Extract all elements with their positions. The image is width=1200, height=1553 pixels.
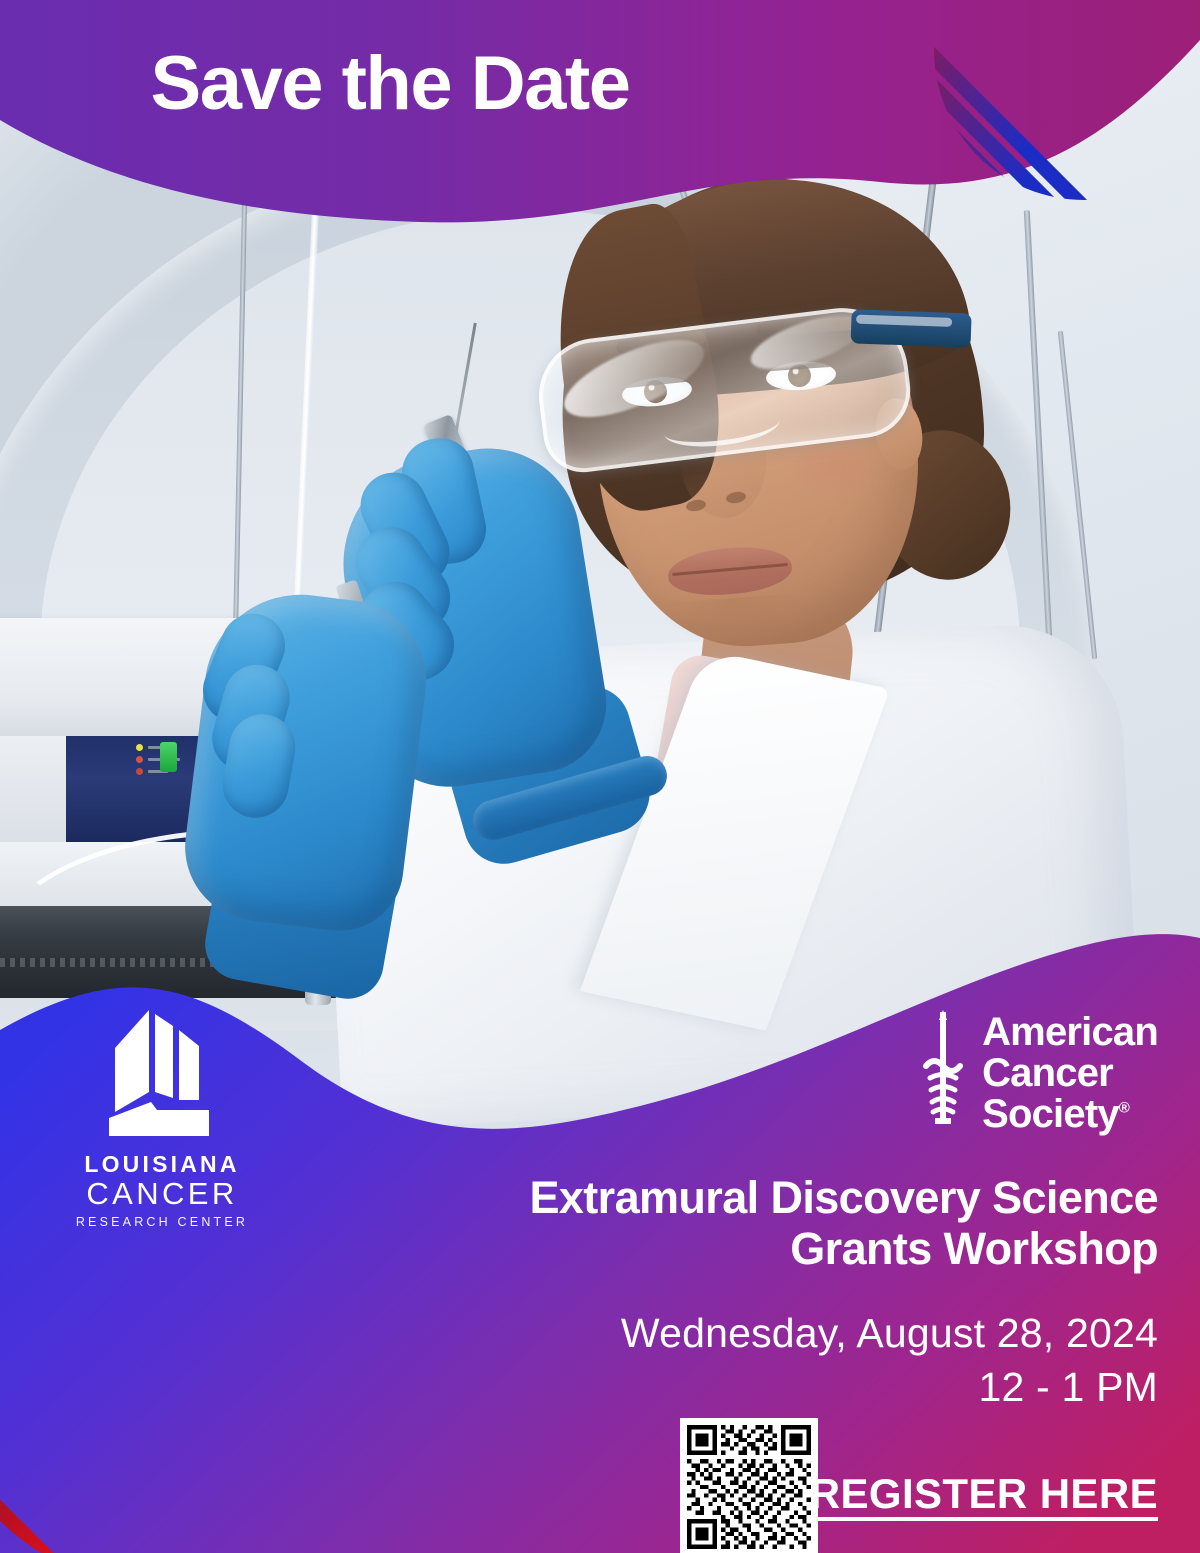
acs-line-2: Cancer (982, 1053, 1158, 1094)
bottom-content: LOUISIANA CANCER RESEARCH CENTER (0, 900, 1200, 1553)
event-title-line-2: Grants Workshop (338, 1223, 1158, 1274)
event-title-line-1: Extramural Discovery Science (338, 1172, 1158, 1223)
register-here-link[interactable]: REGISTER HERE (810, 1470, 1158, 1518)
event-title: Extramural Discovery Science Grants Work… (338, 1172, 1158, 1275)
acs-logo: American Cancer Society® (920, 1008, 1158, 1139)
event-time: 12 - 1 PM (338, 1362, 1158, 1412)
sword-and-serpent-icon (920, 1008, 966, 1139)
acs-line-3: Society (982, 1092, 1119, 1136)
acs-line-3-wrap: Society® (982, 1094, 1158, 1135)
acs-line-1: American (982, 1012, 1158, 1053)
lcrc-building-icon (87, 1000, 237, 1150)
lcrc-logo: LOUISIANA CANCER RESEARCH CENTER (58, 1000, 266, 1232)
flyer-canvas: Save the Date (0, 0, 1200, 1553)
acs-wordmark: American Cancer Society® (982, 1012, 1158, 1134)
registered-trademark-icon: ® (1119, 1100, 1129, 1117)
lcrc-line-1: LOUISIANA (58, 1152, 266, 1177)
qr-code[interactable] (680, 1418, 818, 1553)
left-gloved-hand (177, 584, 436, 938)
event-date: Wednesday, August 28, 2024 (338, 1308, 1158, 1358)
